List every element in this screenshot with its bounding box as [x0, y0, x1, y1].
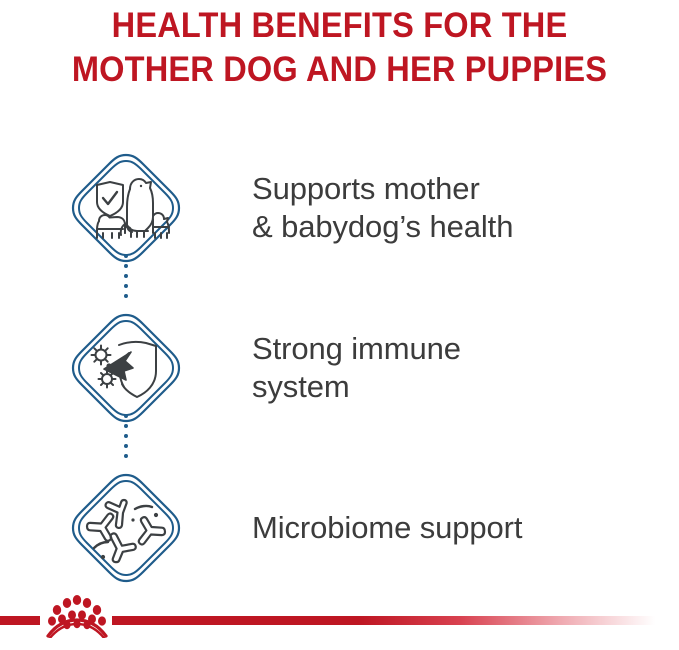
connector-dot — [124, 454, 128, 458]
benefit-icon-cell — [0, 149, 252, 267]
benefit-icon-cell — [0, 469, 252, 587]
benefit-text-line-2: & babydog’s health — [252, 208, 513, 246]
benefit-text: Microbiome support — [252, 509, 546, 547]
connector-dot — [124, 284, 128, 288]
title-line-2: MOTHER DOG AND HER PUPPIES — [24, 48, 655, 92]
benefit-text: Strong immune system — [252, 330, 485, 406]
page-title: HEALTH BENEFITS FOR THE MOTHER DOG AND H… — [0, 0, 679, 92]
shield-germ-defense-icon — [67, 309, 185, 427]
benefit-icon-cell — [0, 309, 252, 427]
benefits-list: Supports mother & babydog’s health — [0, 128, 679, 608]
shield-dog-family-icon — [67, 149, 185, 267]
connector-dot — [124, 274, 128, 278]
benefit-text-line-2: system — [252, 368, 461, 406]
benefit-text-line-1: Strong immune — [252, 330, 461, 368]
benefit-text-line-1: Supports mother — [252, 170, 513, 208]
benefit-row: Microbiome support — [0, 448, 679, 608]
footer-bar-right — [112, 616, 672, 625]
dotted-connector — [0, 414, 252, 458]
connector-dot — [124, 424, 128, 428]
dotted-connector — [0, 254, 252, 298]
footer — [0, 592, 679, 640]
connector-dot — [124, 254, 128, 258]
title-line-1: HEALTH BENEFITS FOR THE — [24, 4, 655, 48]
connector-dot — [124, 444, 128, 448]
connector-dot — [124, 414, 128, 418]
footer-bar-left — [0, 616, 40, 625]
benefit-text-line-1: Microbiome support — [252, 509, 522, 547]
connector-dot — [124, 264, 128, 268]
connector-dot — [124, 434, 128, 438]
connector-dot — [124, 294, 128, 298]
royal-canin-crown-logo — [44, 594, 110, 638]
benefit-text: Supports mother & babydog’s health — [252, 170, 537, 246]
microbiome-bacteria-icon — [67, 469, 185, 587]
